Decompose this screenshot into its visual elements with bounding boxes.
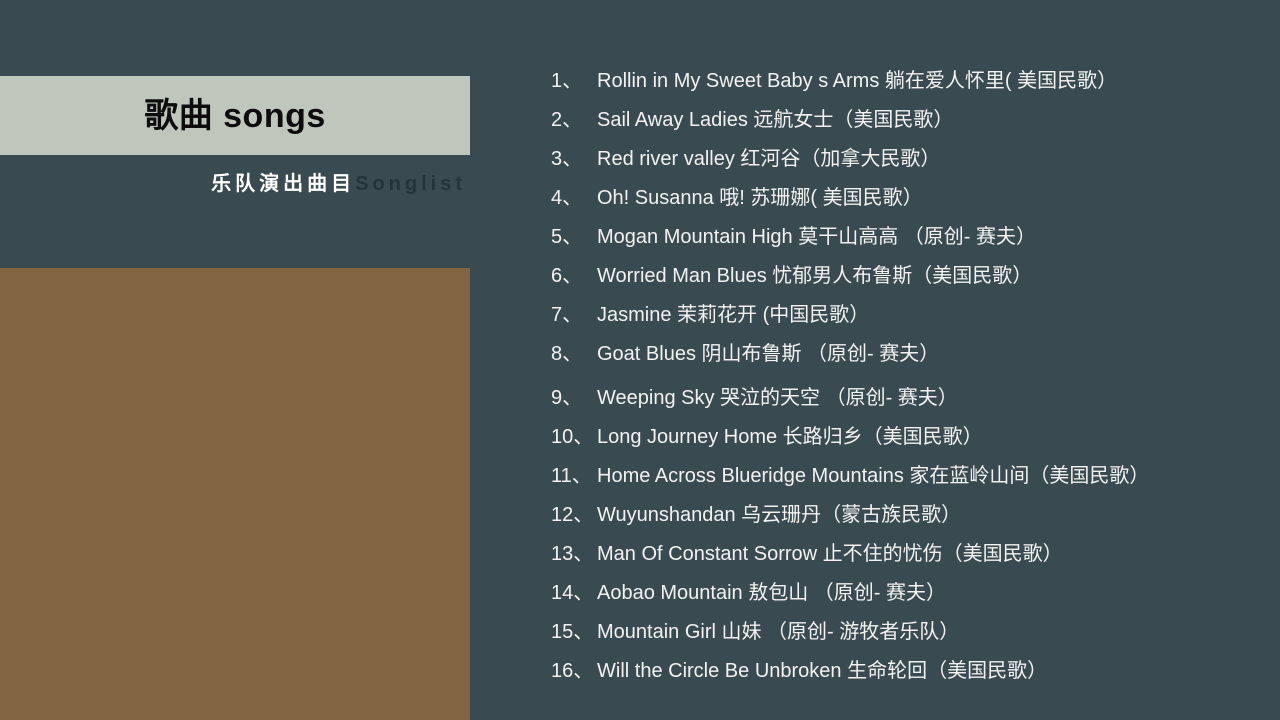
song-title: Aobao Mountain 敖包山 （原创- 赛夫） bbox=[597, 574, 946, 613]
song-index: 8、 bbox=[551, 335, 597, 374]
subtitle-chinese: 乐队演出曲目 bbox=[211, 173, 355, 195]
song-title: Man Of Constant Sorrow 止不住的忧伤（美国民歌） bbox=[597, 535, 1063, 574]
song-title: Sail Away Ladies 远航女士（美国民歌） bbox=[597, 101, 953, 140]
song-list-item: 9、Weeping Sky 哭泣的天空 （原创- 赛夫） bbox=[551, 379, 1251, 418]
song-index: 7、 bbox=[551, 296, 597, 335]
slide-canvas: 歌曲 songs 乐队演出曲目Songlist 1、Rollin in My S… bbox=[0, 0, 1280, 720]
song-index: 2、 bbox=[551, 101, 597, 140]
song-title: Goat Blues 阴山布鲁斯 （原创- 赛夫） bbox=[597, 335, 939, 374]
song-title: Wuyunshandan 乌云珊丹（蒙古族民歌） bbox=[597, 496, 961, 535]
song-index: 16、 bbox=[551, 652, 597, 691]
song-index: 6、 bbox=[551, 257, 597, 296]
song-title: Long Journey Home 长路归乡（美国民歌） bbox=[597, 418, 983, 457]
song-index: 13、 bbox=[551, 535, 597, 574]
song-index: 11、 bbox=[551, 457, 597, 496]
song-title: Oh! Susanna 哦! 苏珊娜( 美国民歌） bbox=[597, 179, 923, 218]
song-list-item: 5、Mogan Mountain High 莫干山高高 （原创- 赛夫） bbox=[551, 218, 1251, 257]
title-band: 歌曲 songs bbox=[0, 76, 470, 155]
song-index: 4、 bbox=[551, 179, 597, 218]
song-title: Weeping Sky 哭泣的天空 （原创- 赛夫） bbox=[597, 379, 958, 418]
song-list-item: 14、Aobao Mountain 敖包山 （原创- 赛夫） bbox=[551, 574, 1251, 613]
song-list-item: 4、Oh! Susanna 哦! 苏珊娜( 美国民歌） bbox=[551, 179, 1251, 218]
song-index: 10、 bbox=[551, 418, 597, 457]
song-index: 12、 bbox=[551, 496, 597, 535]
song-index: 3、 bbox=[551, 140, 597, 179]
song-index: 1、 bbox=[551, 62, 597, 101]
song-list-item: 3、Red river valley 红河谷（加拿大民歌） bbox=[551, 140, 1251, 179]
page-title: 歌曲 songs bbox=[144, 99, 326, 133]
accent-block bbox=[0, 268, 470, 720]
song-list-item: 7、Jasmine 茉莉花开 (中国民歌） bbox=[551, 296, 1251, 335]
song-list-item: 15、Mountain Girl 山妹 （原创- 游牧者乐队） bbox=[551, 613, 1251, 652]
song-index: 9、 bbox=[551, 379, 597, 418]
subtitle: 乐队演出曲目Songlist bbox=[0, 172, 470, 196]
song-title: Worried Man Blues 忧郁男人布鲁斯（美国民歌） bbox=[597, 257, 1032, 296]
song-title: Red river valley 红河谷（加拿大民歌） bbox=[597, 140, 940, 179]
song-list-item: 13、Man Of Constant Sorrow 止不住的忧伤（美国民歌） bbox=[551, 535, 1251, 574]
song-title: Will the Circle Be Unbroken 生命轮回（美国民歌） bbox=[597, 652, 1047, 691]
song-list: 1、Rollin in My Sweet Baby s Arms 躺在爱人怀里(… bbox=[551, 62, 1251, 691]
song-title: Rollin in My Sweet Baby s Arms 躺在爱人怀里( 美… bbox=[597, 62, 1117, 101]
song-index: 14、 bbox=[551, 574, 597, 613]
song-index: 5、 bbox=[551, 218, 597, 257]
song-list-item: 16、Will the Circle Be Unbroken 生命轮回（美国民歌… bbox=[551, 652, 1251, 691]
song-title: Mountain Girl 山妹 （原创- 游牧者乐队） bbox=[597, 613, 959, 652]
song-list-item: 12、Wuyunshandan 乌云珊丹（蒙古族民歌） bbox=[551, 496, 1251, 535]
song-list-item: 2、Sail Away Ladies 远航女士（美国民歌） bbox=[551, 101, 1251, 140]
song-title: Mogan Mountain High 莫干山高高 （原创- 赛夫） bbox=[597, 218, 1036, 257]
song-list-item: 11、Home Across Blueridge Mountains 家在蓝岭山… bbox=[551, 457, 1251, 496]
song-list-item: 6、Worried Man Blues 忧郁男人布鲁斯（美国民歌） bbox=[551, 257, 1251, 296]
song-list-item: 1、Rollin in My Sweet Baby s Arms 躺在爱人怀里(… bbox=[551, 62, 1251, 101]
song-title: Jasmine 茉莉花开 (中国民歌） bbox=[597, 296, 869, 335]
song-title: Home Across Blueridge Mountains 家在蓝岭山间（美… bbox=[597, 457, 1149, 496]
song-list-item: 8、Goat Blues 阴山布鲁斯 （原创- 赛夫） bbox=[551, 335, 1251, 374]
song-list-item: 10、Long Journey Home 长路归乡（美国民歌） bbox=[551, 418, 1251, 457]
song-index: 15、 bbox=[551, 613, 597, 652]
subtitle-english: Songlist bbox=[355, 173, 466, 195]
